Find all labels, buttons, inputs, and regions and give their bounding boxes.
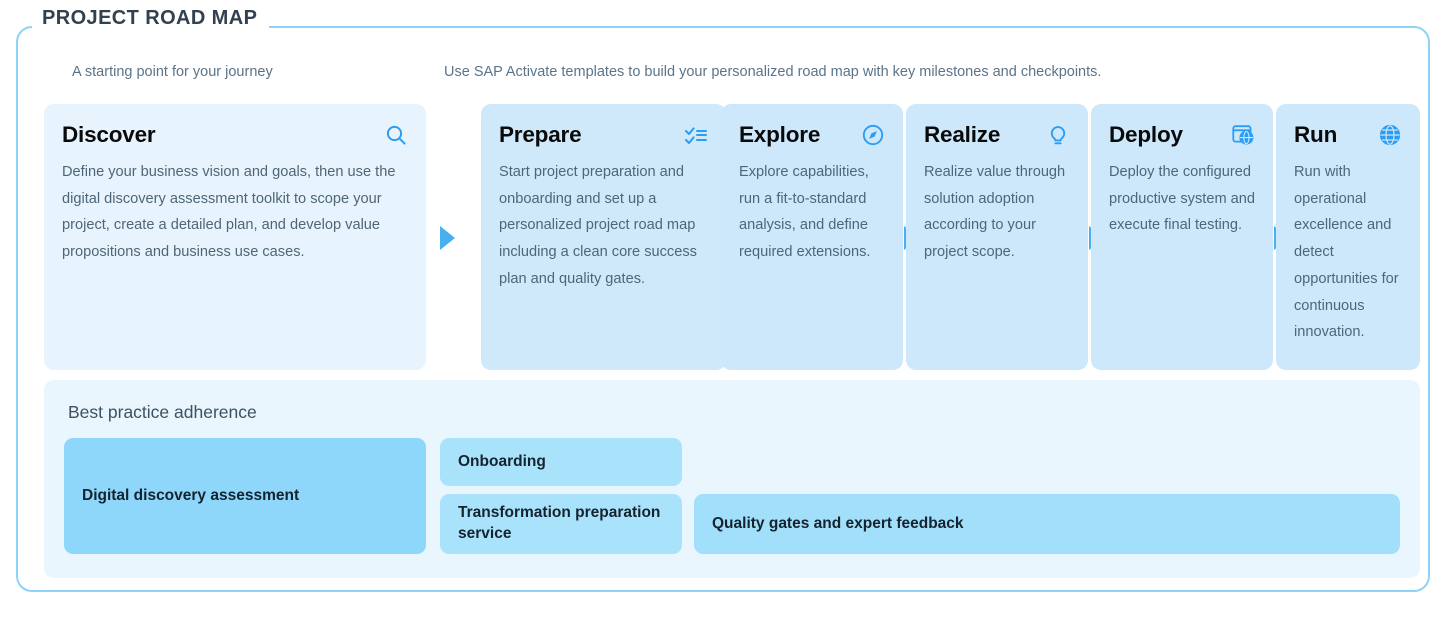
phase-description: Define your business vision and goals, t… bbox=[62, 159, 408, 266]
phase-header: Realize bbox=[924, 120, 1070, 150]
phase-title: Deploy bbox=[1109, 123, 1183, 148]
phase-header: Prepare bbox=[499, 120, 708, 150]
best-practice-item-digital-discovery-assessment[interactable]: Digital discovery assessment bbox=[64, 438, 426, 554]
phase-card-realize[interactable]: Realize Realize value through solution a… bbox=[906, 104, 1088, 370]
phase-title: Explore bbox=[739, 123, 820, 148]
phase-title: Run bbox=[1294, 123, 1337, 148]
phase-header: Deploy bbox=[1109, 120, 1255, 150]
phase-description: Run with operational excellence and dete… bbox=[1294, 159, 1402, 346]
arrow-discover-to-prepare bbox=[440, 226, 455, 250]
project-road-map-canvas: PROJECT ROAD MAP A starting point for yo… bbox=[0, 0, 1450, 618]
phase-card-deploy[interactable]: Deploy Deploy the configured productive … bbox=[1091, 104, 1273, 370]
best-practice-item-transformation-preparation-service[interactable]: Transformation preparation service bbox=[440, 494, 682, 554]
best-practice-item-quality-gates-and-expert-feedback[interactable]: Quality gates and expert feedback bbox=[694, 494, 1400, 554]
browser-globe-icon bbox=[1231, 123, 1255, 147]
phase-title: Realize bbox=[924, 123, 1000, 148]
phase-description: Explore capabilities, run a fit-to-stand… bbox=[739, 159, 885, 266]
phase-header: Discover bbox=[62, 120, 408, 150]
phase-card-discover[interactable]: Discover Define your business vision and… bbox=[44, 104, 426, 370]
lightbulb-icon bbox=[1046, 123, 1070, 147]
best-practice-panel: Best practice adherence Digital discover… bbox=[44, 380, 1420, 578]
best-practice-item-onboarding[interactable]: Onboarding bbox=[440, 438, 682, 486]
phase-card-strip: Discover Define your business vision and… bbox=[44, 104, 1420, 370]
phase-title: Prepare bbox=[499, 123, 581, 148]
caption-right: Use SAP Activate templates to build your… bbox=[444, 64, 1101, 80]
phase-description: Start project preparation and onboarding… bbox=[499, 159, 708, 293]
phase-card-explore[interactable]: Explore Explore capabilities, run a fit-… bbox=[721, 104, 903, 370]
page-title: PROJECT ROAD MAP bbox=[32, 7, 269, 30]
globe-icon bbox=[1378, 123, 1402, 147]
search-icon bbox=[384, 123, 408, 147]
phase-card-run[interactable]: Run Run with operational excellence and … bbox=[1276, 104, 1420, 370]
phase-card-prepare[interactable]: Prepare Start project preparation and on… bbox=[481, 104, 726, 370]
task-list-icon bbox=[684, 123, 708, 147]
best-practice-item-label: Transformation preparation service bbox=[458, 503, 664, 545]
caption-left: A starting point for your journey bbox=[72, 64, 273, 80]
compass-icon bbox=[861, 123, 885, 147]
best-practice-item-label: Onboarding bbox=[458, 452, 546, 473]
best-practice-title: Best practice adherence bbox=[68, 402, 257, 423]
phase-description: Realize value through solution adoption … bbox=[924, 159, 1070, 266]
phase-title: Discover bbox=[62, 123, 155, 148]
phase-description: Deploy the configured productive system … bbox=[1109, 159, 1255, 239]
best-practice-item-label: Digital discovery assessment bbox=[82, 486, 299, 507]
phase-header: Run bbox=[1294, 120, 1402, 150]
phase-header: Explore bbox=[739, 120, 885, 150]
best-practice-item-label: Quality gates and expert feedback bbox=[712, 514, 964, 535]
